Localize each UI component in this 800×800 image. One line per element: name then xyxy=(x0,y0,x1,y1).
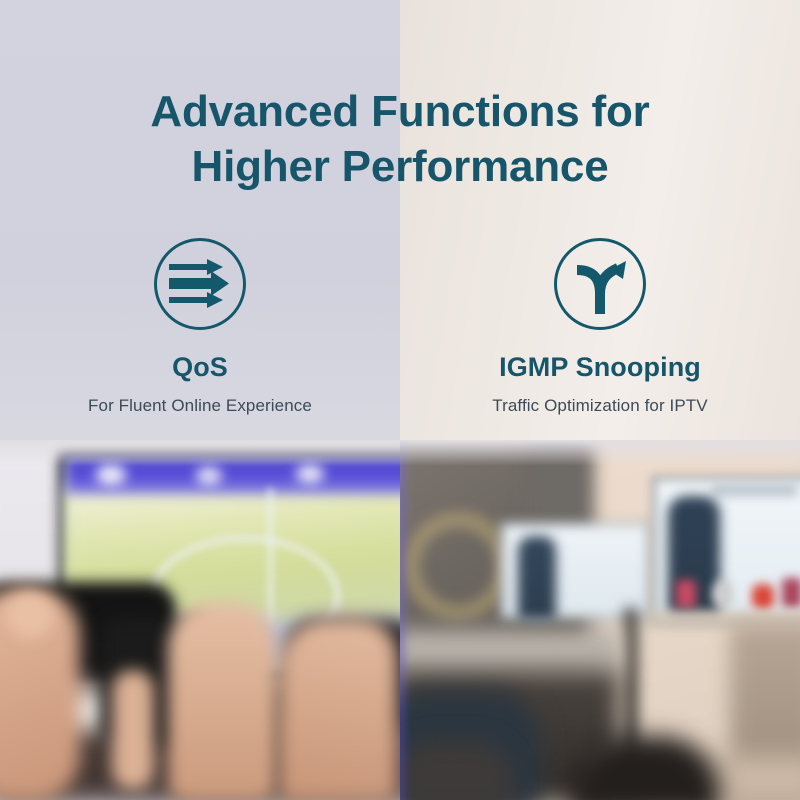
feature-title: IGMP Snooping xyxy=(499,352,701,383)
iptv-room-photo xyxy=(400,440,800,800)
three-arrows-icon xyxy=(154,238,246,330)
page-title-line-1: Advanced Functions for xyxy=(0,84,800,139)
feature-item-qos: QoS For Fluent Online Experience xyxy=(0,238,400,416)
photo-band xyxy=(0,440,800,800)
feature-title: QoS xyxy=(172,352,228,383)
feature-subtitle: Traffic Optimization for IPTV xyxy=(492,396,707,416)
branching-road-arrow-icon xyxy=(554,238,646,330)
page-title-line-2: Higher Performance xyxy=(0,139,800,194)
feature-item-igmp-snooping: IGMP Snooping Traffic Optimization for I… xyxy=(400,238,800,416)
gaming-photo xyxy=(0,440,400,800)
page-title: Advanced Functions for Higher Performanc… xyxy=(0,84,800,194)
feature-subtitle: For Fluent Online Experience xyxy=(88,396,312,416)
feature-poster: Advanced Functions for Higher Performanc… xyxy=(0,0,800,800)
feature-list: QoS For Fluent Online Experience xyxy=(0,238,800,416)
